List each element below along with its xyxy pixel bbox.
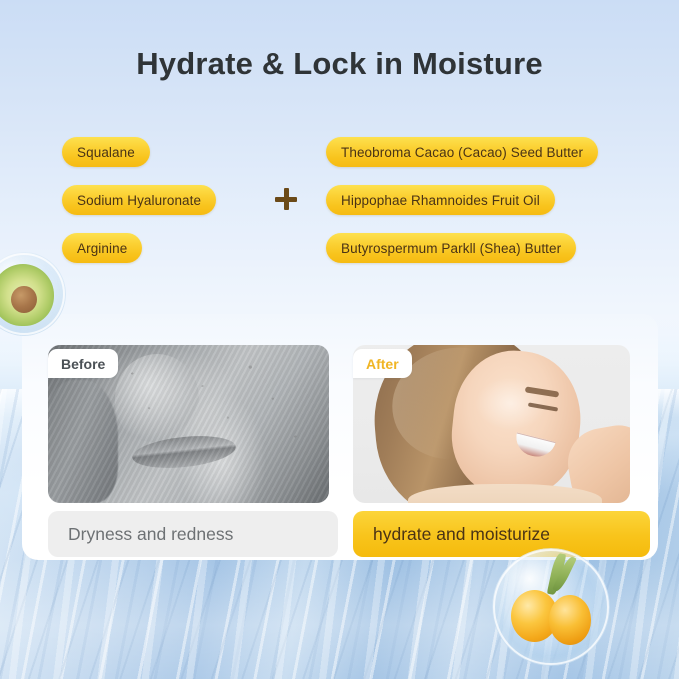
ingredient-pill-right-1: Theobroma Cacao (Cacao) Seed Butter xyxy=(326,137,598,167)
before-caption: Dryness and redness xyxy=(48,511,338,557)
ingredient-pill-left-2: Sodium Hyaluronate xyxy=(62,185,216,215)
page-title: Hydrate & Lock in Moisture xyxy=(0,46,679,82)
plus-icon xyxy=(275,188,297,210)
before-tab-label: Before xyxy=(48,349,118,378)
ingredient-pill-left-1: Squalane xyxy=(62,137,150,167)
after-caption: hydrate and moisturize xyxy=(353,511,650,557)
ingredient-pill-right-2: Hippophae Rhamnoides Fruit Oil xyxy=(326,185,555,215)
ingredient-pill-left-3: Arginine xyxy=(62,233,142,263)
poster-canvas: Hydrate & Lock in Moisture Squalane Sodi… xyxy=(0,0,679,679)
after-tab-label: After xyxy=(353,349,412,378)
ingredient-pill-right-3: Butyrospermum Parkll (Shea) Butter xyxy=(326,233,576,263)
sea-buckthorn-bubble-icon xyxy=(492,548,610,666)
berries-bubble-rim xyxy=(493,549,609,665)
